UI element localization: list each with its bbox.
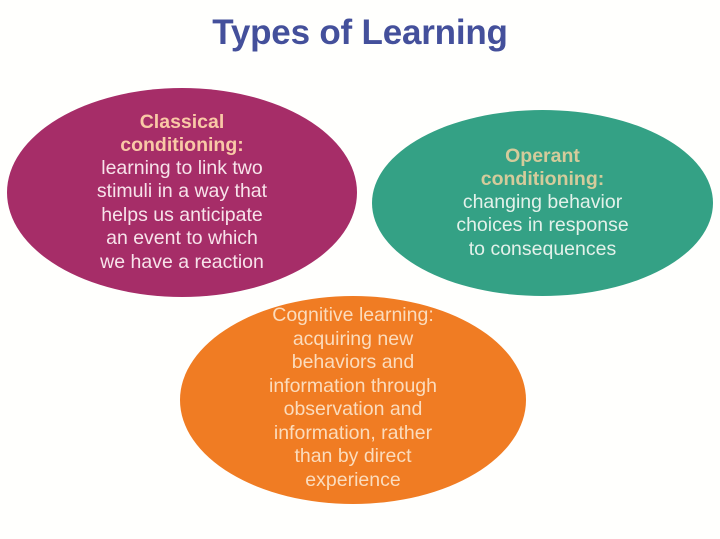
classical-text-stack: Classical conditioning: learning to link… xyxy=(7,111,357,275)
cognitive-heading-line-1: Cognitive learning: xyxy=(186,304,520,328)
classical-heading-line-1: Classical xyxy=(13,111,351,134)
ellipse-classical-conditioning[interactable]: Classical conditioning: learning to link… xyxy=(7,88,357,297)
page-title: Types of Learning xyxy=(0,11,720,55)
operant-heading-line-2: conditioning: xyxy=(378,168,707,191)
ellipse-operant-conditioning[interactable]: Operant conditioning: changing behavior … xyxy=(372,110,713,296)
classical-body-line-2: stimuli in a way that xyxy=(13,180,351,204)
classical-body-line-4: an event to which xyxy=(13,227,351,251)
cognitive-body-line-6: than by direct xyxy=(186,445,520,469)
classical-body-line-1: learning to link two xyxy=(13,157,351,181)
cognitive-text-stack: Cognitive learning: acquiring new behavi… xyxy=(180,304,526,492)
slide-canvas: Types of Learning Classical conditioning… xyxy=(0,0,720,539)
operant-body-line-3: to consequences xyxy=(378,238,707,262)
operant-heading-line-1: Operant xyxy=(378,145,707,168)
classical-body-line-5: we have a reaction xyxy=(13,251,351,275)
operant-text-stack: Operant conditioning: changing behavior … xyxy=(372,145,713,262)
classical-heading-line-2: conditioning: xyxy=(13,134,351,157)
cognitive-body-line-4: observation and xyxy=(186,398,520,422)
operant-body-line-1: changing behavior xyxy=(378,191,707,215)
classical-body-line-3: helps us anticipate xyxy=(13,204,351,228)
cognitive-body-line-7: experience xyxy=(186,469,520,493)
cognitive-body-line-1: acquiring new xyxy=(186,328,520,352)
cognitive-body-line-5: information, rather xyxy=(186,422,520,446)
operant-body-line-2: choices in response xyxy=(378,214,707,238)
cognitive-body-line-3: information through xyxy=(186,375,520,399)
ellipse-cognitive-learning[interactable]: Cognitive learning: acquiring new behavi… xyxy=(180,296,526,504)
cognitive-body-line-2: behaviors and xyxy=(186,351,520,375)
